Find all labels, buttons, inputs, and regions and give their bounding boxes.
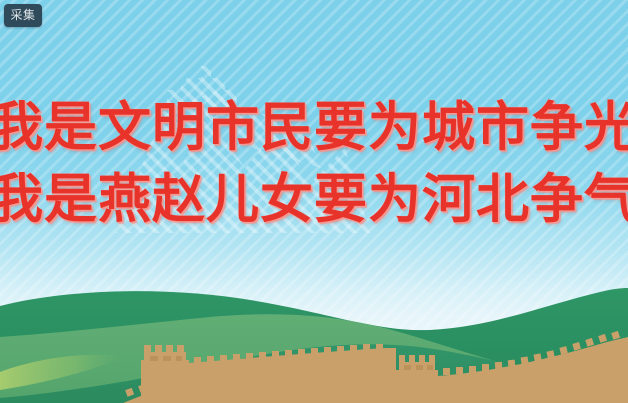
slogan-block: 我是文明市民 要为城市争光 我是燕赵儿女 要为河北争气 — [0, 92, 628, 236]
slogan-line-1: 我是文明市民 要为城市争光 — [0, 92, 628, 164]
capture-button[interactable]: 采集 — [4, 4, 42, 27]
slogan-line-2-left: 我是燕赵儿女 — [0, 164, 314, 236]
slogan-line-2-right: 要为河北争气 — [314, 164, 628, 236]
slogan-line-2: 我是燕赵儿女 要为河北争气 — [0, 164, 628, 236]
slogan-line-1-left: 我是文明市民 — [0, 92, 314, 164]
slogan-line-1-right: 要为城市争光 — [314, 92, 628, 164]
tower-left-windows — [150, 356, 182, 361]
banner-canvas: 我是文明市民 要为城市争光 我是燕赵儿女 要为河北争气 采集 — [0, 0, 628, 403]
